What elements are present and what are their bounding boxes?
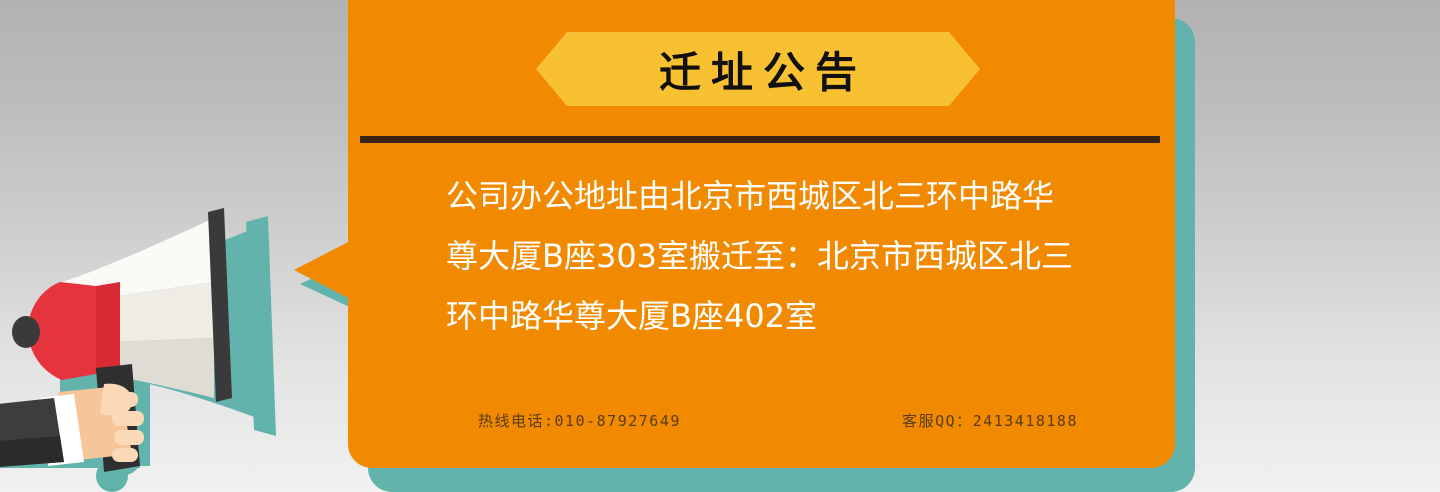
title-banner: 迁址公告 — [536, 32, 980, 106]
contact-footer: 热线电话:010-87927649 客服QQ：2413418188 — [478, 410, 1078, 431]
customer-service-qq: 客服QQ：2413418188 — [902, 410, 1078, 431]
header-divider — [360, 136, 1160, 143]
megaphone-nub-icon — [12, 316, 40, 348]
body-line-3: 环中路华尊大厦B座402室 — [446, 286, 1106, 346]
megaphone-body-shade-icon — [96, 282, 120, 374]
body-line-2: 尊大厦B座303室搬迁至：北京市西城区北三 — [446, 226, 1106, 286]
hotline-phone: 热线电话:010-87927649 — [478, 410, 681, 431]
megaphone-illustration — [0, 186, 310, 492]
page-title: 迁址公告 — [536, 32, 980, 106]
body-line-1: 公司办公地址由北京市西城区北三环中路华 — [446, 166, 1106, 226]
announcement-banner-image: 迁址公告 公司办公地址由北京市西城区北三环中路华 尊大厦B座303室搬迁至：北京… — [0, 0, 1440, 492]
announcement-body: 公司办公地址由北京市西城区北三环中路华 尊大厦B座303室搬迁至：北京市西城区北… — [446, 166, 1106, 346]
